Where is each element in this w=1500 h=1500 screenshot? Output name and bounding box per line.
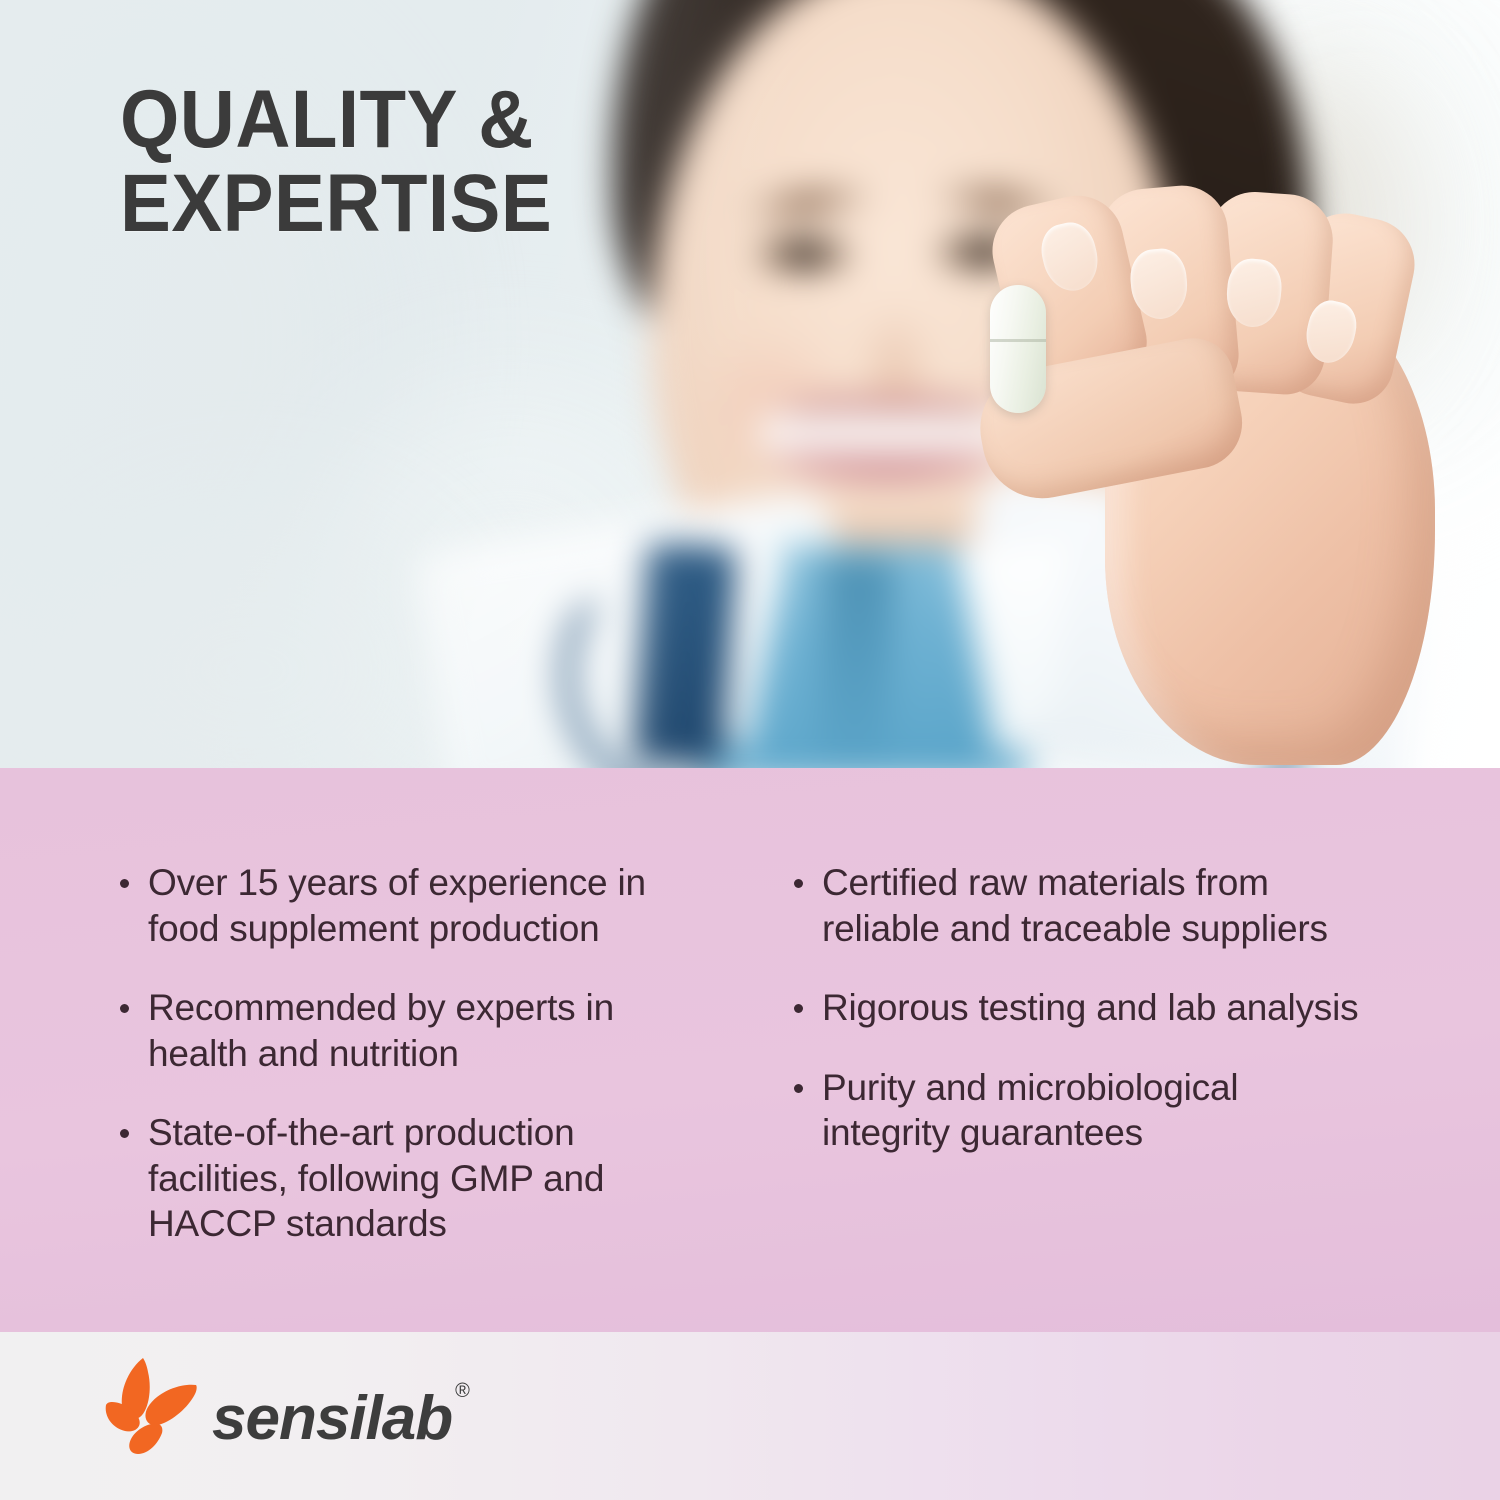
page-title-line-2: EXPERTISE [120,162,697,246]
brand-wordmark: sensilab® [212,1383,466,1454]
benefit-item: Over 15 years of experience in food supp… [118,860,680,951]
benefits-list-right: Certified raw materials from reliable an… [792,860,1360,1156]
infographic-canvas: QUALITY & EXPERTISE Over 15 years of exp… [0,0,1500,1500]
benefit-item: State-of-the-art production facilities, … [118,1110,680,1247]
brand-logo: sensilab® [100,1354,466,1458]
page-title: QUALITY & EXPERTISE [120,78,697,245]
benefits-column-right: Certified raw materials from reliable an… [700,768,1390,1332]
benefit-item: Recommended by experts in health and nut… [118,985,680,1076]
benefits-column-left: Over 15 years of experience in food supp… [0,768,700,1332]
butterfly-icon [100,1354,200,1458]
hero-section: QUALITY & EXPERTISE [0,0,1500,768]
benefit-item: Rigorous testing and lab analysis [792,985,1360,1031]
page-title-line-1: QUALITY & [120,78,697,162]
registered-trademark-mark: ® [455,1380,469,1402]
benefit-item: Purity and microbiological integrity gua… [792,1065,1360,1156]
benefits-section: Over 15 years of experience in food supp… [0,768,1500,1332]
brand-name: sensilab [212,1384,452,1453]
footer-section: sensilab® [0,1332,1500,1500]
benefits-list-left: Over 15 years of experience in food supp… [118,860,680,1247]
benefit-item: Certified raw materials from reliable an… [792,860,1360,951]
